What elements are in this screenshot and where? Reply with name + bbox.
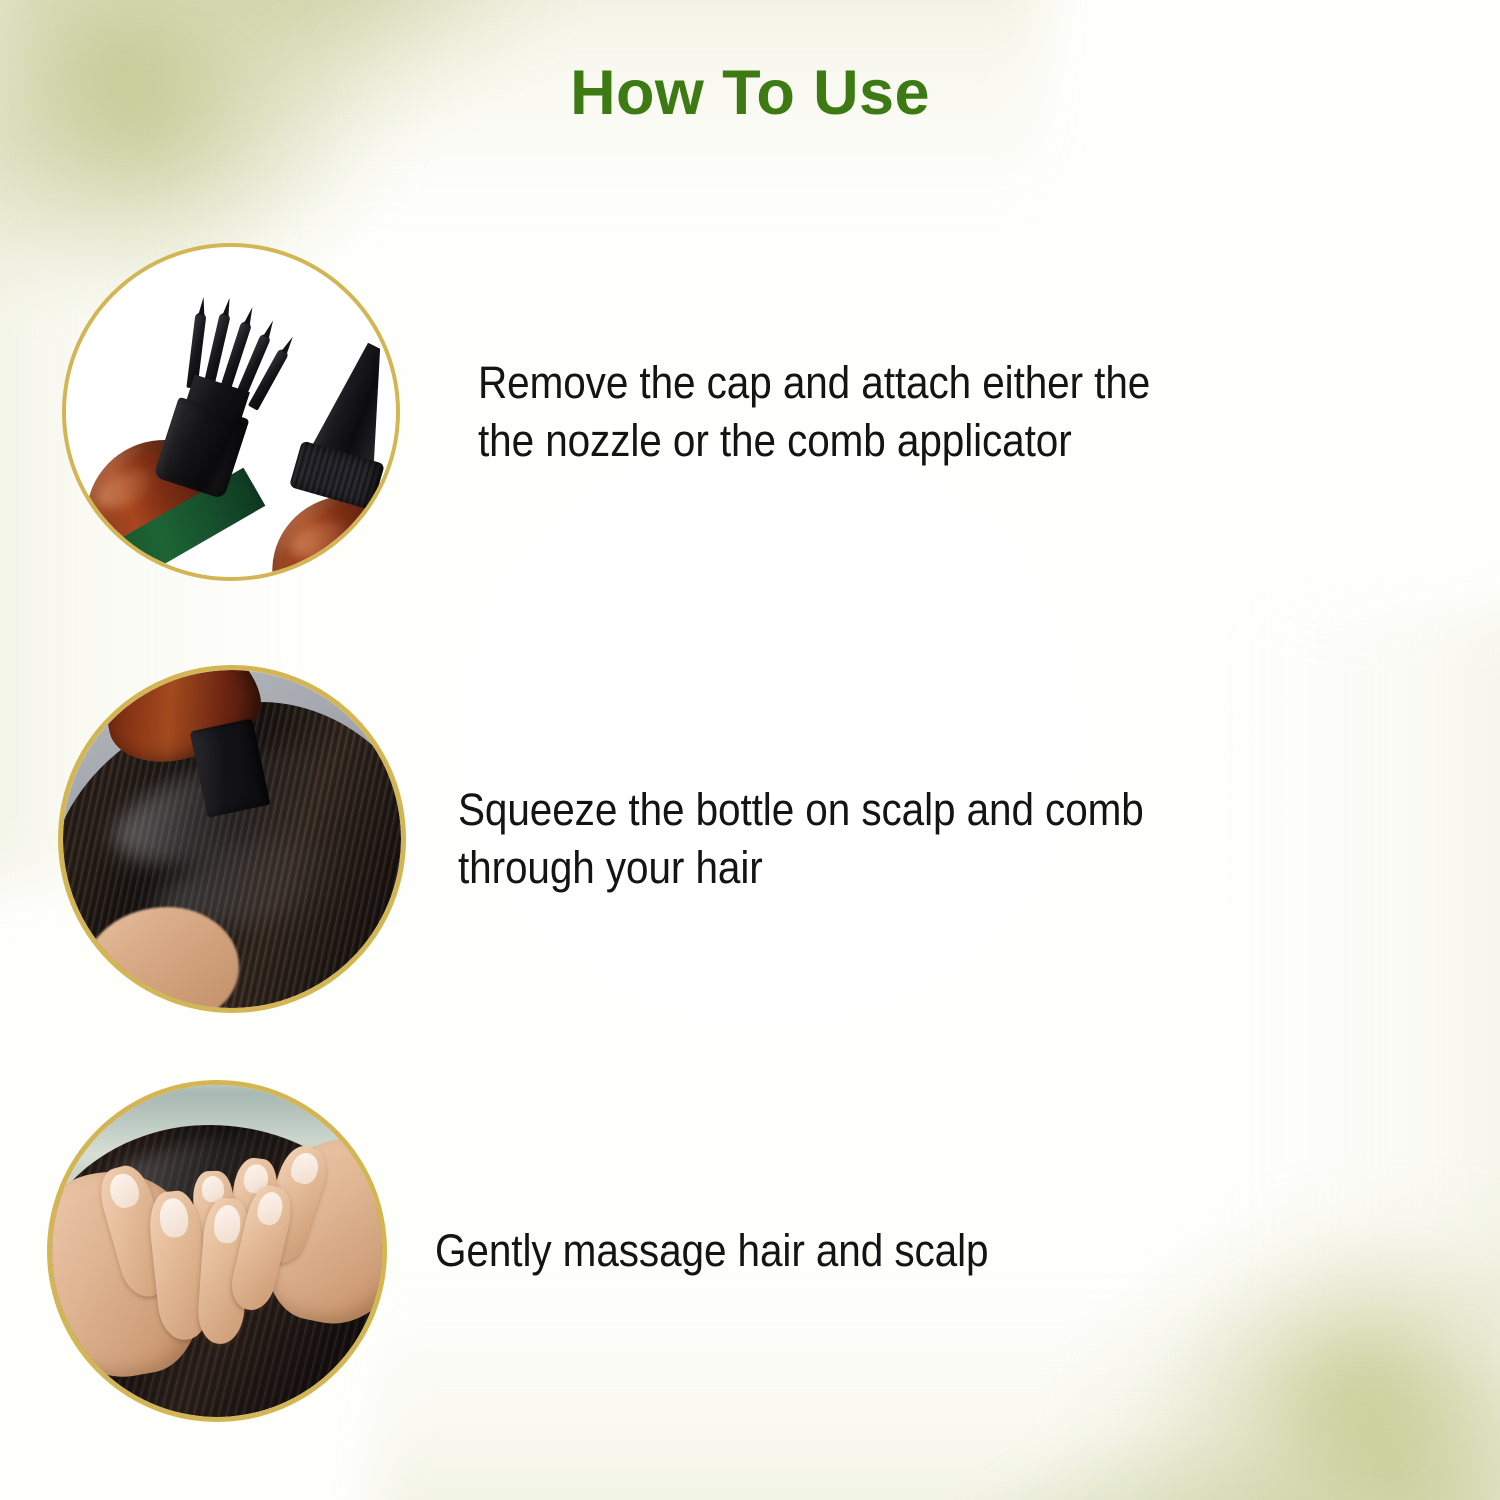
step-3-text: Gently massage hair and scalp (435, 1222, 988, 1281)
step-2-image (58, 665, 406, 1013)
step-3-image (47, 1080, 387, 1422)
step-2-text: Squeeze the bottle on scalp and comb thr… (458, 781, 1144, 898)
step-item-3: Gently massage hair and scalp (0, 1080, 1420, 1422)
step-1-text: Remove the cap and attach either the the… (478, 354, 1150, 471)
page-title: How To Use (0, 60, 1500, 126)
applicator-combing-through-hair-icon (63, 670, 401, 1008)
hands-massaging-scalp-icon (52, 1085, 382, 1417)
step-1-image (62, 243, 400, 581)
step-item-2: Squeeze the bottle on scalp and comb thr… (0, 665, 1420, 1013)
step-item-1: Remove the cap and attach either the the… (0, 243, 1420, 581)
how-to-use-infographic: How To Use (0, 0, 1500, 1500)
bottles-with-comb-and-nozzle-applicator-icon (66, 247, 396, 577)
